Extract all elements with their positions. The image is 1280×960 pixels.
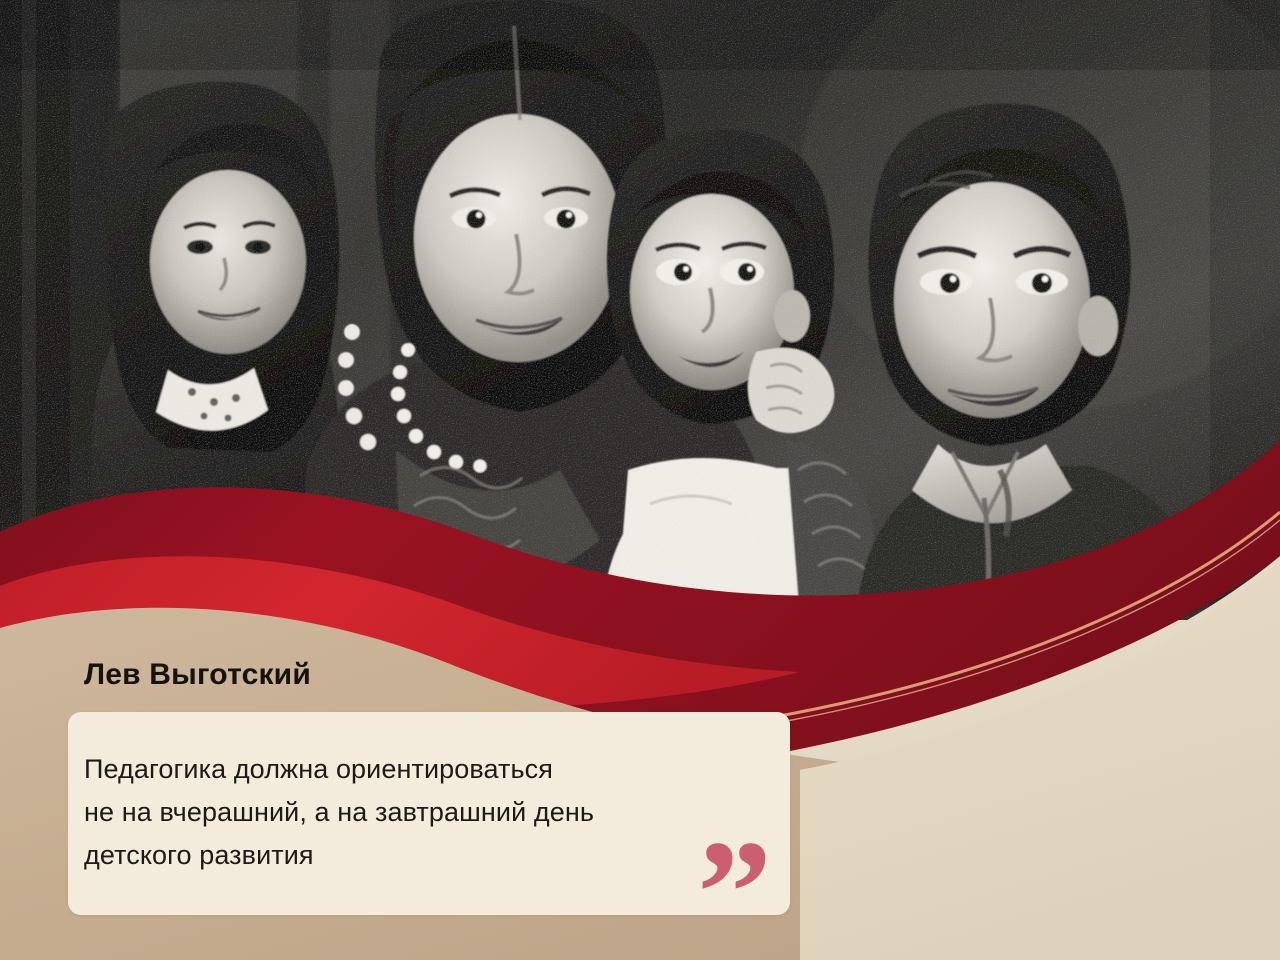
quotation-mark-icon: ” — [697, 838, 768, 948]
author-name: Лев Выготский — [84, 658, 311, 692]
quote-body-text: Педагогика должна ориентироваться не на … — [84, 748, 704, 877]
quote-card-graphic: Лев Выготский Педагогика должна ориентир… — [0, 0, 1280, 960]
